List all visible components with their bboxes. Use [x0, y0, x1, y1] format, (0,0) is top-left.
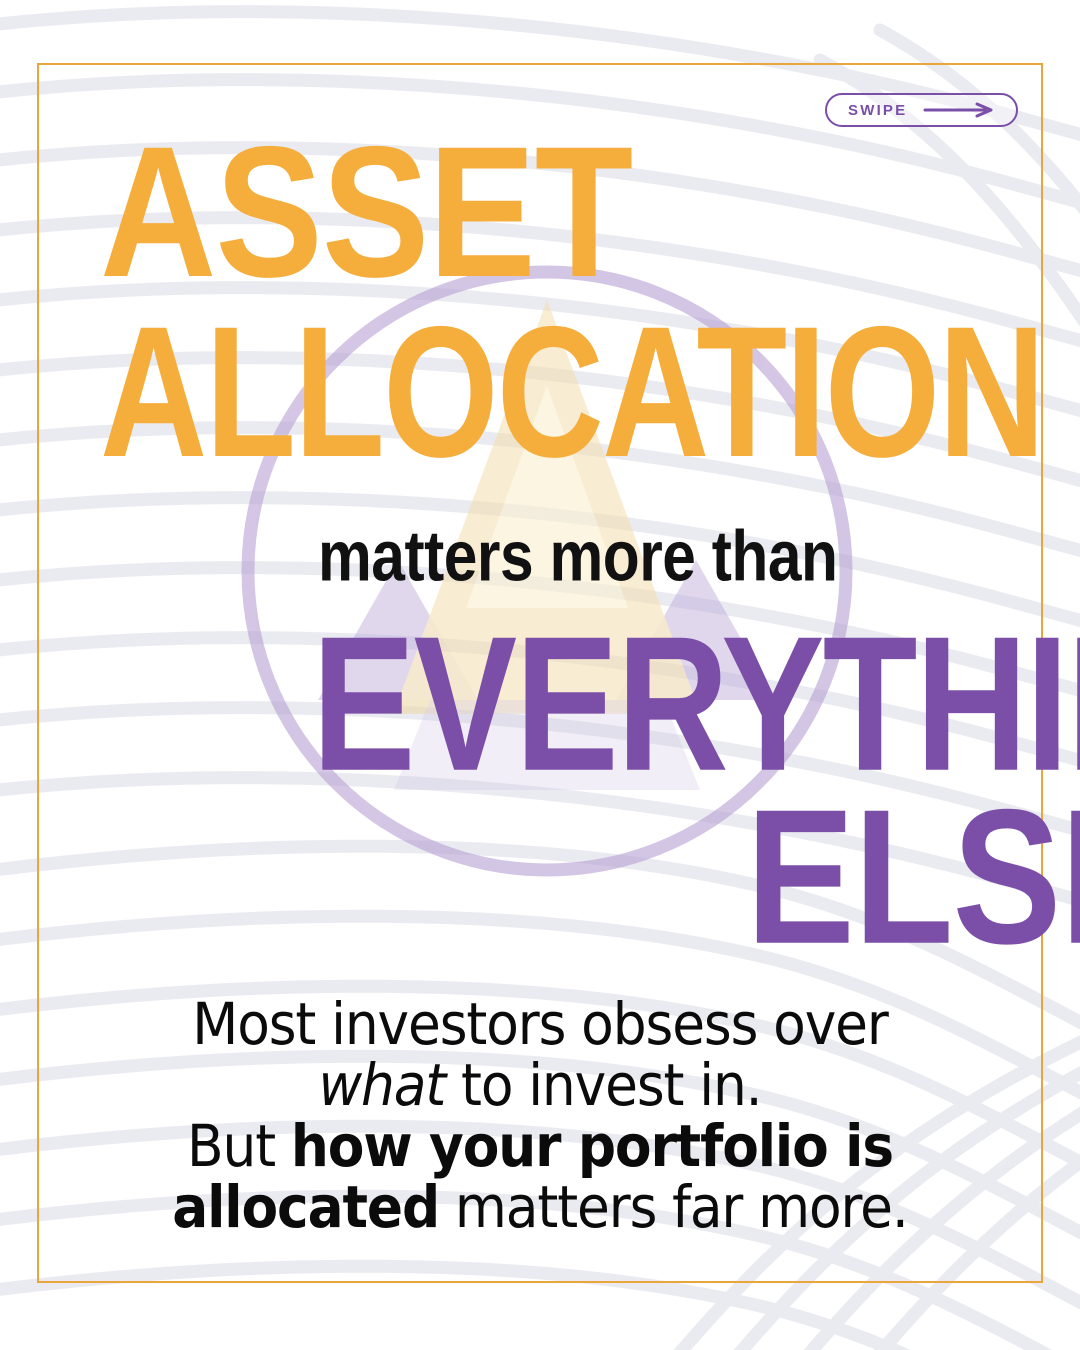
headline-line-allocation: ALLOCATION [100, 318, 1044, 467]
body-paragraph: Most investors obsess over what to inves… [98, 994, 981, 1238]
content-layer: ASSET ALLOCATION matters more than EVERY… [0, 0, 1080, 1350]
body-line-2: what to invest in. [98, 1055, 981, 1116]
body-strong-part-1: how your portfolio is [291, 1112, 893, 1180]
swipe-label: SWIPE [848, 102, 907, 119]
body-line-2-rest: to invest in. [445, 1051, 761, 1119]
headline-line-everything: EVERYTHING [312, 627, 1080, 781]
body-line-3-prefix: But [187, 1112, 291, 1180]
body-emphasis-what: what [318, 1051, 445, 1119]
body-line-4-rest: matters far more. [439, 1173, 908, 1241]
arrow-right-icon [923, 102, 997, 118]
headline-line-else: ELSE [746, 800, 1080, 954]
body-line-4: allocated matters far more. [98, 1177, 981, 1238]
headline-line-asset: ASSET [100, 138, 632, 287]
body-line-3: But how your portfolio is [98, 1116, 981, 1177]
social-post-canvas: SWIPE ASSET ALLOCATION matters more than… [0, 0, 1080, 1350]
body-strong-part-2: allocated [172, 1173, 439, 1241]
body-line-1: Most investors obsess over [98, 994, 981, 1055]
headline-line-matters-more-than: matters more than [318, 528, 838, 585]
swipe-indicator-button[interactable]: SWIPE [825, 93, 1018, 127]
